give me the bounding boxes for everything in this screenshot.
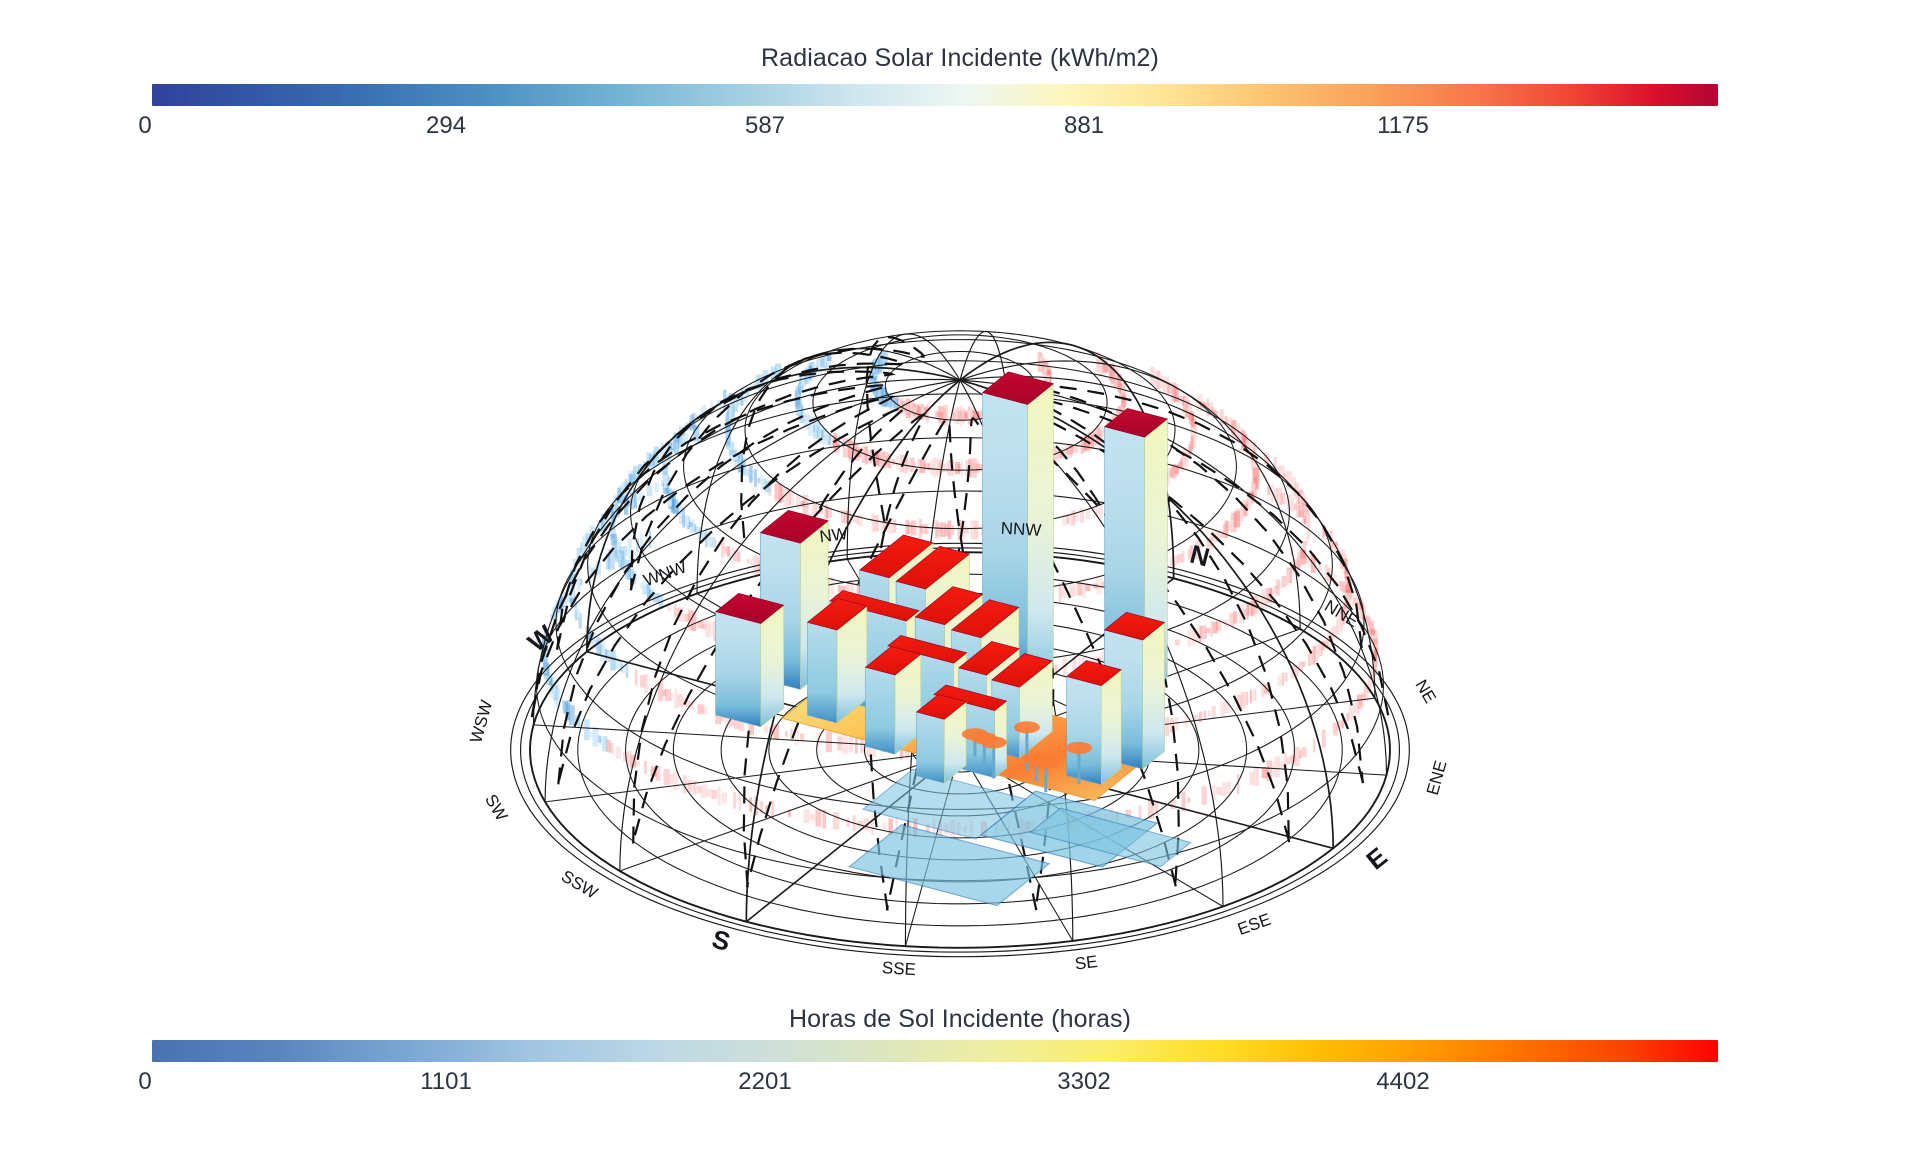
top-legend-title: Radiacao Solar Incidente (kWh/m2) — [0, 44, 1920, 73]
bottom-tick-3: 3302 — [1057, 1068, 1110, 1096]
top-tick-0: 0 — [138, 112, 151, 140]
building[interactable] — [917, 695, 967, 784]
tree-canopy — [981, 736, 1007, 748]
solar-sky-dome-scene[interactable]: NNNENEENEEESESESSESSSWSWWSWWWNWNWNNW — [0, 150, 1920, 990]
building[interactable] — [716, 593, 784, 726]
bottom-tick-4: 4402 — [1376, 1068, 1429, 1096]
top-colorbar[interactable] — [152, 84, 1718, 106]
tree-canopy — [1014, 721, 1040, 733]
tree-canopy — [1066, 742, 1092, 754]
compass-label-N: N — [1187, 539, 1213, 573]
compass-label-SSW: SSW — [558, 867, 601, 903]
top-tick-3: 881 — [1064, 112, 1104, 140]
bottom-tick-0: 0 — [138, 1068, 151, 1096]
compass-label-ENE: ENE — [1423, 758, 1451, 797]
bottom-legend-title: Horas de Sol Incidente (horas) — [0, 1005, 1920, 1034]
compass-label-ESE: ESE — [1235, 910, 1273, 939]
top-colorbar-ticks: 0 294 587 881 1175 — [0, 112, 1920, 142]
bottom-tick-2: 2201 — [738, 1068, 791, 1096]
top-tick-4: 1175 — [1377, 112, 1429, 140]
building[interactable] — [1067, 661, 1122, 785]
building[interactable] — [808, 598, 867, 723]
compass-label-WNW: WNW — [641, 557, 689, 590]
top-tick-1: 294 — [426, 112, 466, 140]
compass-label-E: E — [1360, 841, 1392, 875]
bottom-legend: Horas de Sol Incidente (horas) — [0, 1005, 1920, 1034]
compass-label-S: S — [709, 924, 733, 957]
bottom-colorbar-ticks: 0 1101 2201 3302 4402 — [0, 1068, 1920, 1098]
building[interactable] — [866, 646, 921, 754]
compass-label-SE: SE — [1074, 952, 1099, 974]
compass-label-NNW: NNW — [1000, 519, 1042, 540]
compass-label-NE: NE — [1411, 676, 1439, 706]
bottom-colorbar[interactable] — [152, 1040, 1718, 1062]
compass-label-WSW: WSW — [466, 698, 496, 745]
tree-canopy — [1033, 757, 1059, 769]
compass-label-SW: SW — [481, 791, 511, 824]
compass-label-SSE: SSE — [881, 958, 916, 979]
top-tick-2: 587 — [745, 112, 785, 140]
top-legend: Radiacao Solar Incidente (kWh/m2) — [0, 44, 1920, 73]
bottom-tick-1: 1101 — [420, 1068, 472, 1096]
compass-label-NW: NW — [818, 524, 848, 546]
